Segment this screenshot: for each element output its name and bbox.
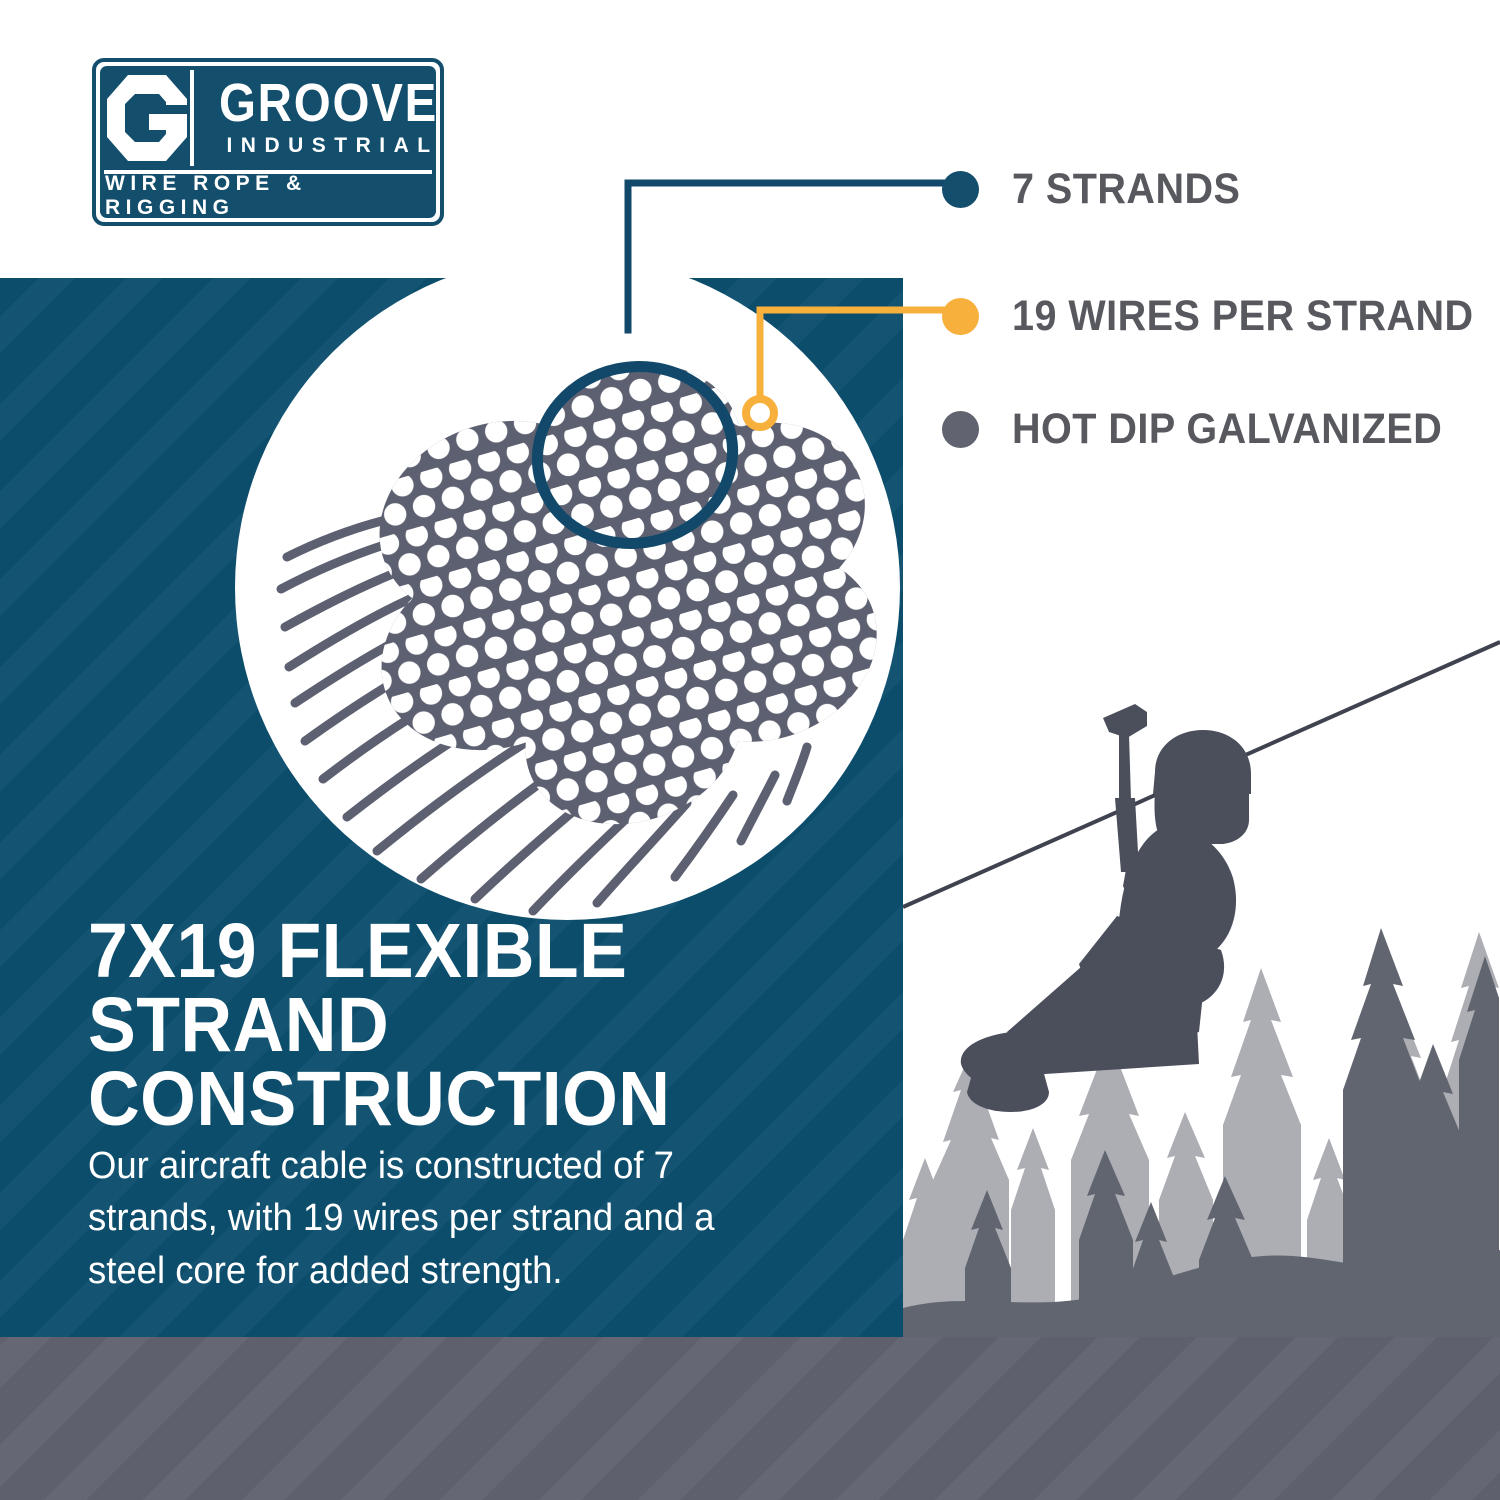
bottom-gray-band (0, 1337, 1500, 1500)
leader-line-wires (760, 310, 960, 412)
headline-line-1: 7X19 FLEXIBLE (88, 915, 823, 989)
infographic-canvas: GROOVE INDUSTRIAL WIRE ROPE & RIGGING (0, 0, 1500, 1500)
callout-label: 19 WIRES PER STRAND (1012, 292, 1474, 341)
band-stripe-texture (0, 1337, 1500, 1500)
callout-dot-icon (942, 298, 979, 335)
headline: 7X19 FLEXIBLE STRAND CONSTRUCTION (88, 915, 823, 1137)
callout-label: 7 STRANDS (1012, 165, 1240, 214)
callout-galvanized[interactable]: HOT DIP GALVANIZED (942, 405, 1480, 454)
callout-strands[interactable]: 7 STRANDS (942, 165, 1260, 214)
callout-wires-per-strand[interactable]: 19 WIRES PER STRAND (942, 292, 1500, 341)
callout-dot-icon (942, 411, 979, 448)
callout-label: HOT DIP GALVANIZED (1012, 405, 1442, 454)
zipline-photo (903, 620, 1500, 1337)
callout-dot-icon (942, 171, 979, 208)
leader-anchor-ring-icon (746, 399, 774, 427)
body-copy: Our aircraft cable is constructed of 7 s… (88, 1140, 750, 1297)
headline-line-2: STRAND CONSTRUCTION (88, 989, 823, 1137)
